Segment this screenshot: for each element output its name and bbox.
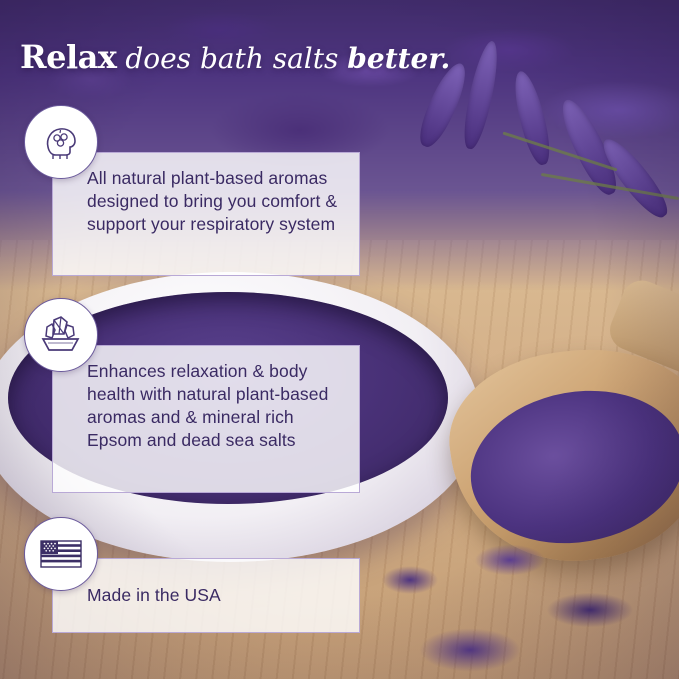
feature-badge-1 — [24, 105, 98, 179]
feature-card-2: Enhances relaxation & body health with n… — [52, 345, 360, 493]
headline-brand: Relax — [20, 38, 116, 76]
usa-flag-icon — [38, 537, 84, 571]
headline-phrase: does bath salts — [116, 42, 347, 75]
feature-text-2: Enhances relaxation & body health with n… — [87, 360, 343, 452]
feature-badge-2 — [24, 298, 98, 372]
head-wellness-icon — [40, 121, 82, 163]
product-infographic: Relax does bath salts better. All natura… — [0, 0, 679, 679]
feature-text-3: Made in the USA — [87, 573, 343, 618]
feature-card-1: All natural plant-based aromas designed … — [52, 152, 360, 276]
feature-card-3: Made in the USA — [52, 558, 360, 633]
feature-badge-3 — [24, 517, 98, 591]
feature-text-1: All natural plant-based aromas designed … — [87, 167, 343, 236]
headline-emphasis: better. — [347, 42, 450, 75]
page-title: Relax does bath salts better. — [20, 38, 450, 76]
overlay-content: Relax does bath salts better. All natura… — [0, 0, 679, 679]
mineral-crystals-icon — [39, 314, 83, 356]
